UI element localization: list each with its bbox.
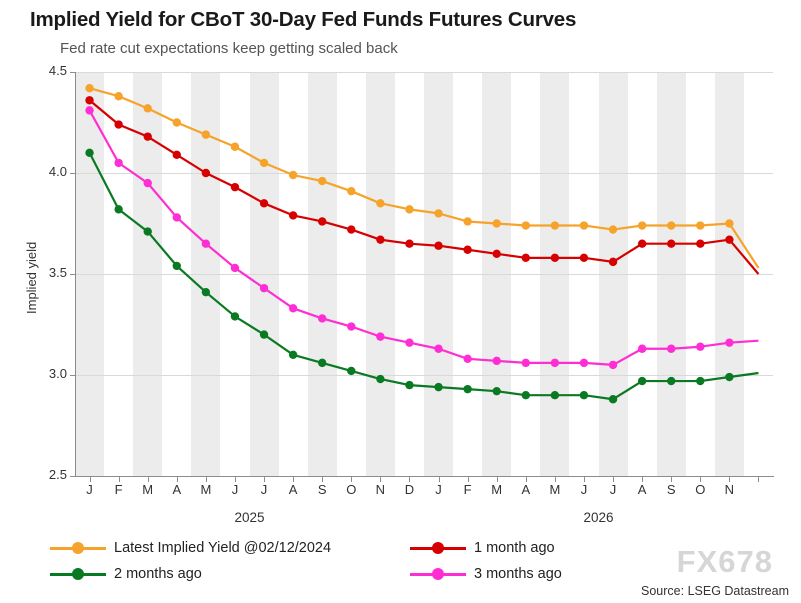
series-point xyxy=(114,120,122,128)
legend-label-two-months: 2 months ago xyxy=(114,566,202,582)
legend-dot-swatch xyxy=(72,568,84,580)
x-tick-mark xyxy=(613,477,614,482)
series-point xyxy=(609,361,617,369)
series-point xyxy=(231,143,239,151)
legend-item-latest[interactable]: Latest Implied Yield @02/12/2024 xyxy=(50,540,331,556)
legend-dot-swatch xyxy=(72,542,84,554)
x-tick-label: D xyxy=(394,482,424,497)
series-point xyxy=(85,96,93,104)
series-lines xyxy=(75,72,773,476)
x-tick-mark xyxy=(380,477,381,482)
series-point xyxy=(522,391,530,399)
series-point xyxy=(114,92,122,100)
legend-item-one-month[interactable]: 1 month ago xyxy=(410,540,555,556)
series-point xyxy=(522,221,530,229)
x-axis-year-label: 2025 xyxy=(210,510,290,525)
series-point xyxy=(609,225,617,233)
x-tick-label: J xyxy=(75,482,105,497)
series-point xyxy=(376,375,384,383)
y-tick-label: 4.0 xyxy=(27,164,67,179)
source-attribution: Source: LSEG Datastream xyxy=(641,584,789,598)
series-point xyxy=(434,242,442,250)
series-point xyxy=(289,304,297,312)
series-point xyxy=(434,383,442,391)
legend-dot-swatch xyxy=(432,542,444,554)
series-point xyxy=(289,351,297,359)
x-tick-label: N xyxy=(365,482,395,497)
x-axis-year-label: 2026 xyxy=(559,510,639,525)
y-tick-label: 3.0 xyxy=(27,366,67,381)
series-point xyxy=(696,221,704,229)
chart-container: Implied Yield for CBoT 30-Day Fed Funds … xyxy=(0,0,801,603)
series-point xyxy=(493,387,501,395)
legend-label-latest: Latest Implied Yield @02/12/2024 xyxy=(114,540,331,556)
x-tick-mark xyxy=(119,477,120,482)
x-tick-mark xyxy=(322,477,323,482)
series-line xyxy=(90,110,759,365)
x-tick-mark xyxy=(206,477,207,482)
x-tick-mark xyxy=(409,477,410,482)
y-axis-label: Implied yield xyxy=(24,242,39,314)
x-tick-label: A xyxy=(162,482,192,497)
series-point xyxy=(202,169,210,177)
x-tick-mark xyxy=(148,477,149,482)
series-point xyxy=(493,219,501,227)
series-point xyxy=(347,322,355,330)
x-tick-label: F xyxy=(104,482,134,497)
x-tick-label: J xyxy=(598,482,628,497)
x-tick-mark xyxy=(526,477,527,482)
series-point xyxy=(696,240,704,248)
x-tick-mark xyxy=(584,477,585,482)
series-point xyxy=(493,357,501,365)
series-point xyxy=(522,254,530,262)
series-point xyxy=(638,377,646,385)
page-title: Implied Yield for CBoT 30-Day Fed Funds … xyxy=(30,8,576,32)
series-point xyxy=(551,359,559,367)
legend-swatch-latest xyxy=(50,541,106,555)
series-point xyxy=(85,84,93,92)
x-axis xyxy=(75,476,774,477)
series-point xyxy=(376,332,384,340)
series-point xyxy=(289,211,297,219)
series-point xyxy=(725,373,733,381)
x-tick-label: A xyxy=(511,482,541,497)
series-point xyxy=(493,250,501,258)
series-point xyxy=(434,345,442,353)
x-tick-label: M xyxy=(482,482,512,497)
series-point xyxy=(551,391,559,399)
series-point xyxy=(551,221,559,229)
series-point xyxy=(347,187,355,195)
legend-swatch-three-months xyxy=(410,567,466,581)
series-point xyxy=(114,205,122,213)
series-point xyxy=(463,217,471,225)
x-tick-mark xyxy=(439,477,440,482)
series-point xyxy=(173,213,181,221)
series-point xyxy=(463,355,471,363)
series-point xyxy=(173,262,181,270)
series-point xyxy=(667,377,675,385)
series-point xyxy=(434,209,442,217)
series-point xyxy=(405,338,413,346)
x-tick-label: M xyxy=(133,482,163,497)
series-point xyxy=(580,391,588,399)
series-point xyxy=(667,221,675,229)
legend-label-one-month: 1 month ago xyxy=(474,540,555,556)
series-point xyxy=(609,395,617,403)
series-point xyxy=(667,240,675,248)
chart-subtitle: Fed rate cut expectations keep getting s… xyxy=(60,40,398,57)
series-point xyxy=(231,183,239,191)
x-tick-label: A xyxy=(278,482,308,497)
series-point xyxy=(725,235,733,243)
series-point xyxy=(202,288,210,296)
series-point xyxy=(580,359,588,367)
series-point xyxy=(85,149,93,157)
y-tick-label: 4.5 xyxy=(27,63,67,78)
series-point xyxy=(231,264,239,272)
series-point xyxy=(580,221,588,229)
series-point xyxy=(144,132,152,140)
watermark: FX678 xyxy=(677,544,773,580)
legend-swatch-one-month xyxy=(410,541,466,555)
x-tick-label: J xyxy=(424,482,454,497)
series-line xyxy=(90,88,759,268)
series-point xyxy=(638,221,646,229)
x-tick-mark xyxy=(671,477,672,482)
x-tick-label: O xyxy=(685,482,715,497)
series-point xyxy=(318,177,326,185)
series-point xyxy=(609,258,617,266)
series-point xyxy=(231,312,239,320)
series-point xyxy=(696,377,704,385)
x-tick-mark xyxy=(235,477,236,482)
series-point xyxy=(638,345,646,353)
x-tick-label: F xyxy=(453,482,483,497)
x-tick-mark xyxy=(177,477,178,482)
series-point xyxy=(260,284,268,292)
x-tick-label: N xyxy=(714,482,744,497)
series-point xyxy=(347,225,355,233)
x-tick-label: S xyxy=(656,482,686,497)
series-point xyxy=(144,104,152,112)
series-point xyxy=(260,199,268,207)
chart-legend: Latest Implied Yield @02/12/2024 1 month… xyxy=(50,540,610,592)
x-tick-mark xyxy=(468,477,469,482)
series-point xyxy=(405,205,413,213)
series-point xyxy=(696,343,704,351)
series-point xyxy=(173,151,181,159)
legend-label-three-months: 3 months ago xyxy=(474,566,562,582)
x-tick-label: A xyxy=(627,482,657,497)
x-tick-mark xyxy=(264,477,265,482)
series-point xyxy=(260,330,268,338)
series-point xyxy=(551,254,559,262)
x-tick-label: J xyxy=(220,482,250,497)
series-point xyxy=(202,130,210,138)
x-tick-label: J xyxy=(569,482,599,497)
series-point xyxy=(85,106,93,114)
y-tick-label: 2.5 xyxy=(27,467,67,482)
series-line xyxy=(90,100,759,274)
x-tick-label: M xyxy=(191,482,221,497)
series-point xyxy=(463,246,471,254)
series-point xyxy=(463,385,471,393)
series-point xyxy=(522,359,530,367)
x-tick-mark xyxy=(729,477,730,482)
series-point xyxy=(173,118,181,126)
series-point xyxy=(405,381,413,389)
x-tick-mark xyxy=(555,477,556,482)
series-point xyxy=(260,159,268,167)
x-tick-mark xyxy=(700,477,701,482)
series-point xyxy=(638,240,646,248)
x-tick-label: O xyxy=(336,482,366,497)
x-tick-label: M xyxy=(540,482,570,497)
x-tick-mark xyxy=(293,477,294,482)
legend-item-two-months[interactable]: 2 months ago xyxy=(50,566,202,582)
x-tick-label: S xyxy=(307,482,337,497)
x-tick-mark xyxy=(90,477,91,482)
series-point xyxy=(202,240,210,248)
series-point xyxy=(144,227,152,235)
x-tick-mark xyxy=(758,477,759,482)
legend-item-three-months[interactable]: 3 months ago xyxy=(410,566,562,582)
series-point xyxy=(580,254,588,262)
series-point xyxy=(376,199,384,207)
legend-dot-swatch xyxy=(432,568,444,580)
series-point xyxy=(114,159,122,167)
series-point xyxy=(318,314,326,322)
series-point xyxy=(376,235,384,243)
series-point xyxy=(347,367,355,375)
x-tick-label: J xyxy=(249,482,279,497)
series-point xyxy=(405,240,413,248)
y-tick-mark xyxy=(70,476,75,477)
series-line xyxy=(90,153,759,399)
x-tick-mark xyxy=(497,477,498,482)
series-point xyxy=(725,219,733,227)
series-point xyxy=(318,217,326,225)
x-tick-mark xyxy=(351,477,352,482)
series-point xyxy=(289,171,297,179)
series-point xyxy=(144,179,152,187)
series-point xyxy=(667,345,675,353)
series-point xyxy=(725,338,733,346)
series-point xyxy=(318,359,326,367)
x-tick-mark xyxy=(642,477,643,482)
legend-swatch-two-months xyxy=(50,567,106,581)
